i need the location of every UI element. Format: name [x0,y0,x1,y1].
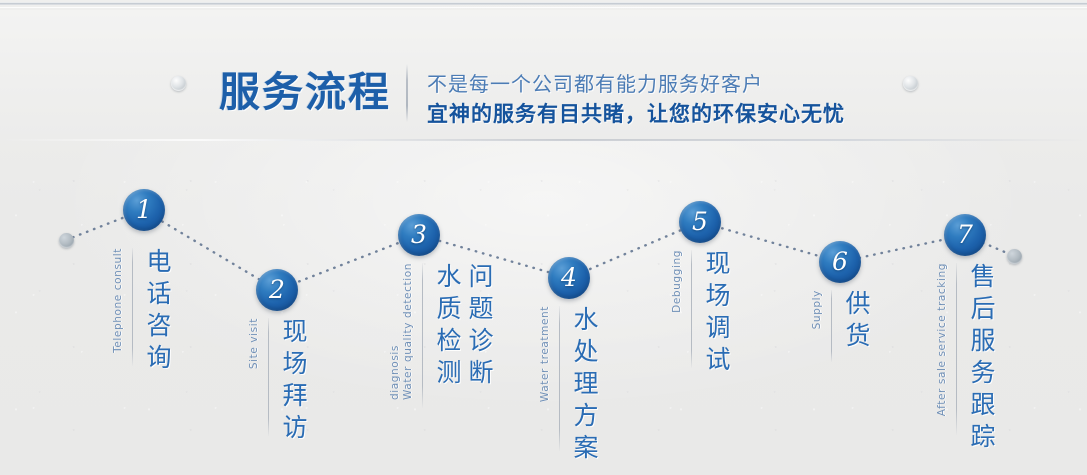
flow-node-5[interactable]: 5 [679,201,721,243]
flow-label-5-divider [691,250,692,368]
flow-endpoint-end [1007,249,1022,264]
flow-node-1-number: 1 [136,197,152,222]
flow-label-1: Telephone consult 电话咨询 [112,248,172,366]
page-title: 服务流程 [219,58,391,118]
flow-node-5-number: 5 [692,209,708,234]
flow-node-3[interactable]: 3 [398,214,440,256]
flow-label-7: After sale service tracking 售后服务跟踪 [936,263,996,435]
flow-node-3-number: 3 [411,222,427,247]
header-banner: 服务流程 不是每一个公司都有能力服务好客户 宜神的服务有目共睹，让您的环保安心无… [0,10,1087,140]
flow-label-1-cn-0: 电话咨询 [142,248,172,376]
flow-label-4-cn-0: 水处理方案 [569,306,599,466]
flow-label-7-en-0: After sale service tracking [936,263,949,416]
flow-label-1-divider [132,248,133,366]
flow-label-3-cn-1: 水质检测 [432,263,462,391]
flow-node-4-number: 4 [561,265,577,290]
flow-label-5: Debugging 现场调试 [671,250,731,368]
flow-node-4[interactable]: 4 [548,257,590,299]
flow-node-6[interactable]: 6 [819,241,861,283]
flow-label-5-en-0: Debugging [671,250,684,313]
subtitle-line-2: 宜神的服务有目共睹，让您的环保安心无忧 [427,98,845,128]
flow-label-1-en-0: Telephone consult [112,248,125,353]
flow-label-7-divider [956,263,957,435]
flow-label-3: Water quality detection diagnosis 问题诊断 水… [389,263,494,408]
flow-node-6-number: 6 [832,249,848,274]
subtitle-line-1: 不是每一个公司都有能力服务好客户 [427,68,763,97]
flow-node-7-number: 7 [957,222,973,247]
flow-label-7-cn-0: 售后服务跟踪 [966,263,996,455]
top-rule-highlight [0,7,1087,8]
top-rule [0,2,1087,5]
title-divider [406,64,408,122]
flow-node-7[interactable]: 7 [944,214,986,256]
flow-label-3-en-1: diagnosis [389,263,402,400]
flow-node-2[interactable]: 2 [256,269,298,311]
flow-label-2-divider [268,318,269,436]
flow-node-1[interactable]: 1 [123,189,165,231]
flow-label-6-en-0: Supply [811,290,824,329]
flow-label-5-cn-0: 现场调试 [701,250,731,378]
flow-label-3-en-0: Water quality detection [402,263,415,400]
page-canvas: 服务流程 不是每一个公司都有能力服务好客户 宜神的服务有目共睹，让您的环保安心无… [0,0,1087,475]
flow-label-3-cn-0: 问题诊断 [464,263,494,391]
decorative-dot-right [903,76,918,91]
flow-label-6-divider [831,290,832,362]
flow-label-3-divider [422,263,423,408]
flow-label-2: Site visit 现场拜访 [248,318,308,436]
flow-label-2-en-0: Site visit [248,318,261,369]
flow-node-2-number: 2 [269,277,285,302]
flow-endpoint-start [59,233,74,248]
flow-label-6-cn-0: 供货 [841,290,871,354]
flow-label-4-en-0: Water treatment [539,306,552,402]
decorative-dot-left [171,76,186,91]
flow-label-6: Supply 供货 [811,290,871,362]
flow-label-4: Water treatment 水处理方案 [539,306,599,451]
flow-label-2-cn-0: 现场拜访 [278,318,308,446]
flow-label-4-divider [559,306,560,451]
